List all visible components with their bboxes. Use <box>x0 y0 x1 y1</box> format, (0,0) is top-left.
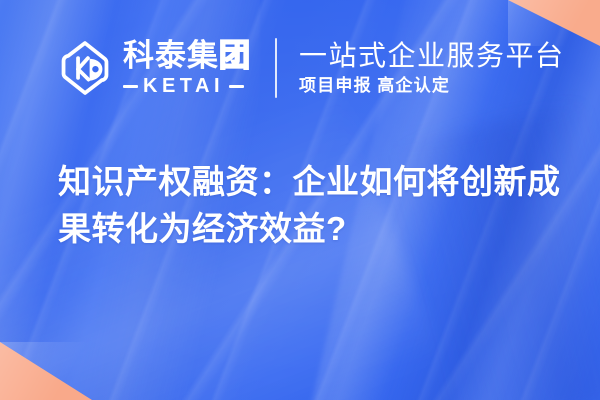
headline-line-1: 知识产权融资：企业如何将创新成 <box>58 158 558 205</box>
brand-lockup[interactable]: 科泰集团 KETAI <box>56 39 251 97</box>
tagline-secondary: 项目申报 高企认定 <box>299 77 565 96</box>
brand-rule-right-icon <box>229 85 244 88</box>
tagline-primary: 一站式企业服务平台 <box>299 40 565 71</box>
headline-line-2: 果转化为经济效益? <box>58 205 558 252</box>
brand-name-cn: 科泰集团 <box>123 40 251 71</box>
brand-name-latin-row: KETAI <box>123 76 251 96</box>
brand-name-latin: KETAI <box>143 76 224 96</box>
ketai-diamond-logo-icon <box>56 39 114 97</box>
header-tagline: 一站式企业服务平台 项目申报 高企认定 <box>299 40 565 95</box>
banner-header: 科泰集团 KETAI 一站式企业服务平台 项目申报 高企认定 <box>56 38 565 98</box>
corner-accent-bottom-left <box>0 342 92 400</box>
header-divider <box>275 38 277 98</box>
promo-banner: 科泰集团 KETAI 一站式企业服务平台 项目申报 高企认定 知识产权融资：企业… <box>0 0 600 400</box>
article-headline: 知识产权融资：企业如何将创新成 果转化为经济效益? <box>58 158 558 252</box>
brand-wordmark: 科泰集团 KETAI <box>123 40 251 96</box>
brand-name-cn-lead: 科泰集 <box>123 38 219 73</box>
brand-name-cn-hollow: 团 <box>219 38 251 73</box>
brand-rule-left-icon <box>123 85 138 88</box>
